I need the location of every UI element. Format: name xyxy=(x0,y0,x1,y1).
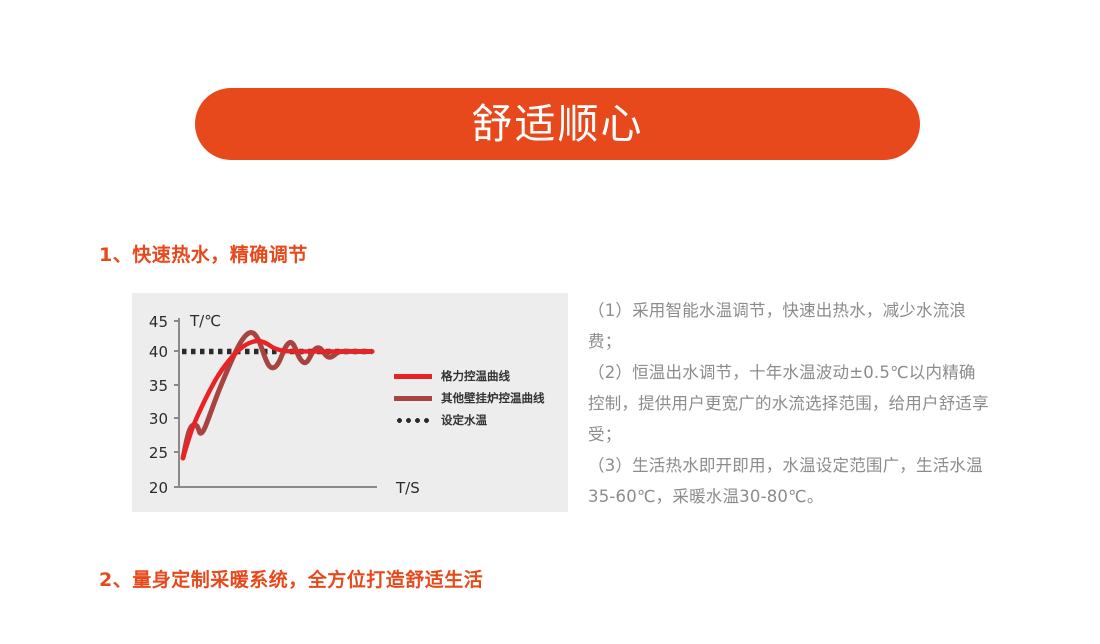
y-tick-label: 25 xyxy=(149,444,168,462)
y-tick-label: 45 xyxy=(149,313,168,331)
legend-label-other-boiler: 其他壁挂炉控温曲线 xyxy=(441,390,545,406)
page-banner: 舒适顺心 xyxy=(195,88,920,160)
chart-legend: 格力控温曲线 其他壁挂炉控温曲线 设定水温 xyxy=(394,365,564,431)
legend-swatch-gree xyxy=(394,374,432,379)
legend-item-setpoint: 设定水温 xyxy=(394,409,564,431)
y-tick-label: 40 xyxy=(149,343,168,361)
banner-title: 舒适顺心 xyxy=(472,104,644,145)
y-axis-tick-labels: 45 40 35 30 25 20 xyxy=(149,313,168,497)
legend-item-other-boiler: 其他壁挂炉控温曲线 xyxy=(394,387,564,409)
y-axis-title: T/℃ xyxy=(189,312,221,330)
x-axis-title: T/S xyxy=(395,479,420,497)
description-paragraph-3: （3）生活热水即开即用，水温设定范围广，生活水温35-60℃，采暖水温30-80… xyxy=(588,450,992,512)
description-paragraph-2: （2）恒温出水调节，十年水温波动±0.5℃以内精确控制，提供用户更宽广的水流选择… xyxy=(588,357,992,450)
y-tick-label: 20 xyxy=(149,479,168,497)
section-heading-1: 1、快速热水，精确调节 xyxy=(99,240,308,267)
section-heading-2: 2、量身定制采暖系统，全方位打造舒适生活 xyxy=(99,565,483,592)
legend-label-setpoint: 设定水温 xyxy=(441,412,487,428)
legend-label-gree: 格力控温曲线 xyxy=(441,368,510,384)
description-paragraph-1: （1）采用智能水温调节，快速出热水，减少水流浪费； xyxy=(588,295,992,357)
legend-item-gree: 格力控温曲线 xyxy=(394,365,564,387)
series-line-gree xyxy=(183,341,372,458)
y-tick-label: 35 xyxy=(149,377,168,395)
y-tick-label: 30 xyxy=(149,410,168,428)
feature-description-block: （1）采用智能水温调节，快速出热水，减少水流浪费； （2）恒温出水调节，十年水温… xyxy=(588,295,992,512)
chart-panel: 45 40 35 30 25 20 T/℃ T/S 格力控温曲线 其他壁挂炉控温… xyxy=(132,293,568,512)
legend-swatch-setpoint xyxy=(394,418,432,423)
legend-swatch-other-boiler xyxy=(394,396,432,401)
